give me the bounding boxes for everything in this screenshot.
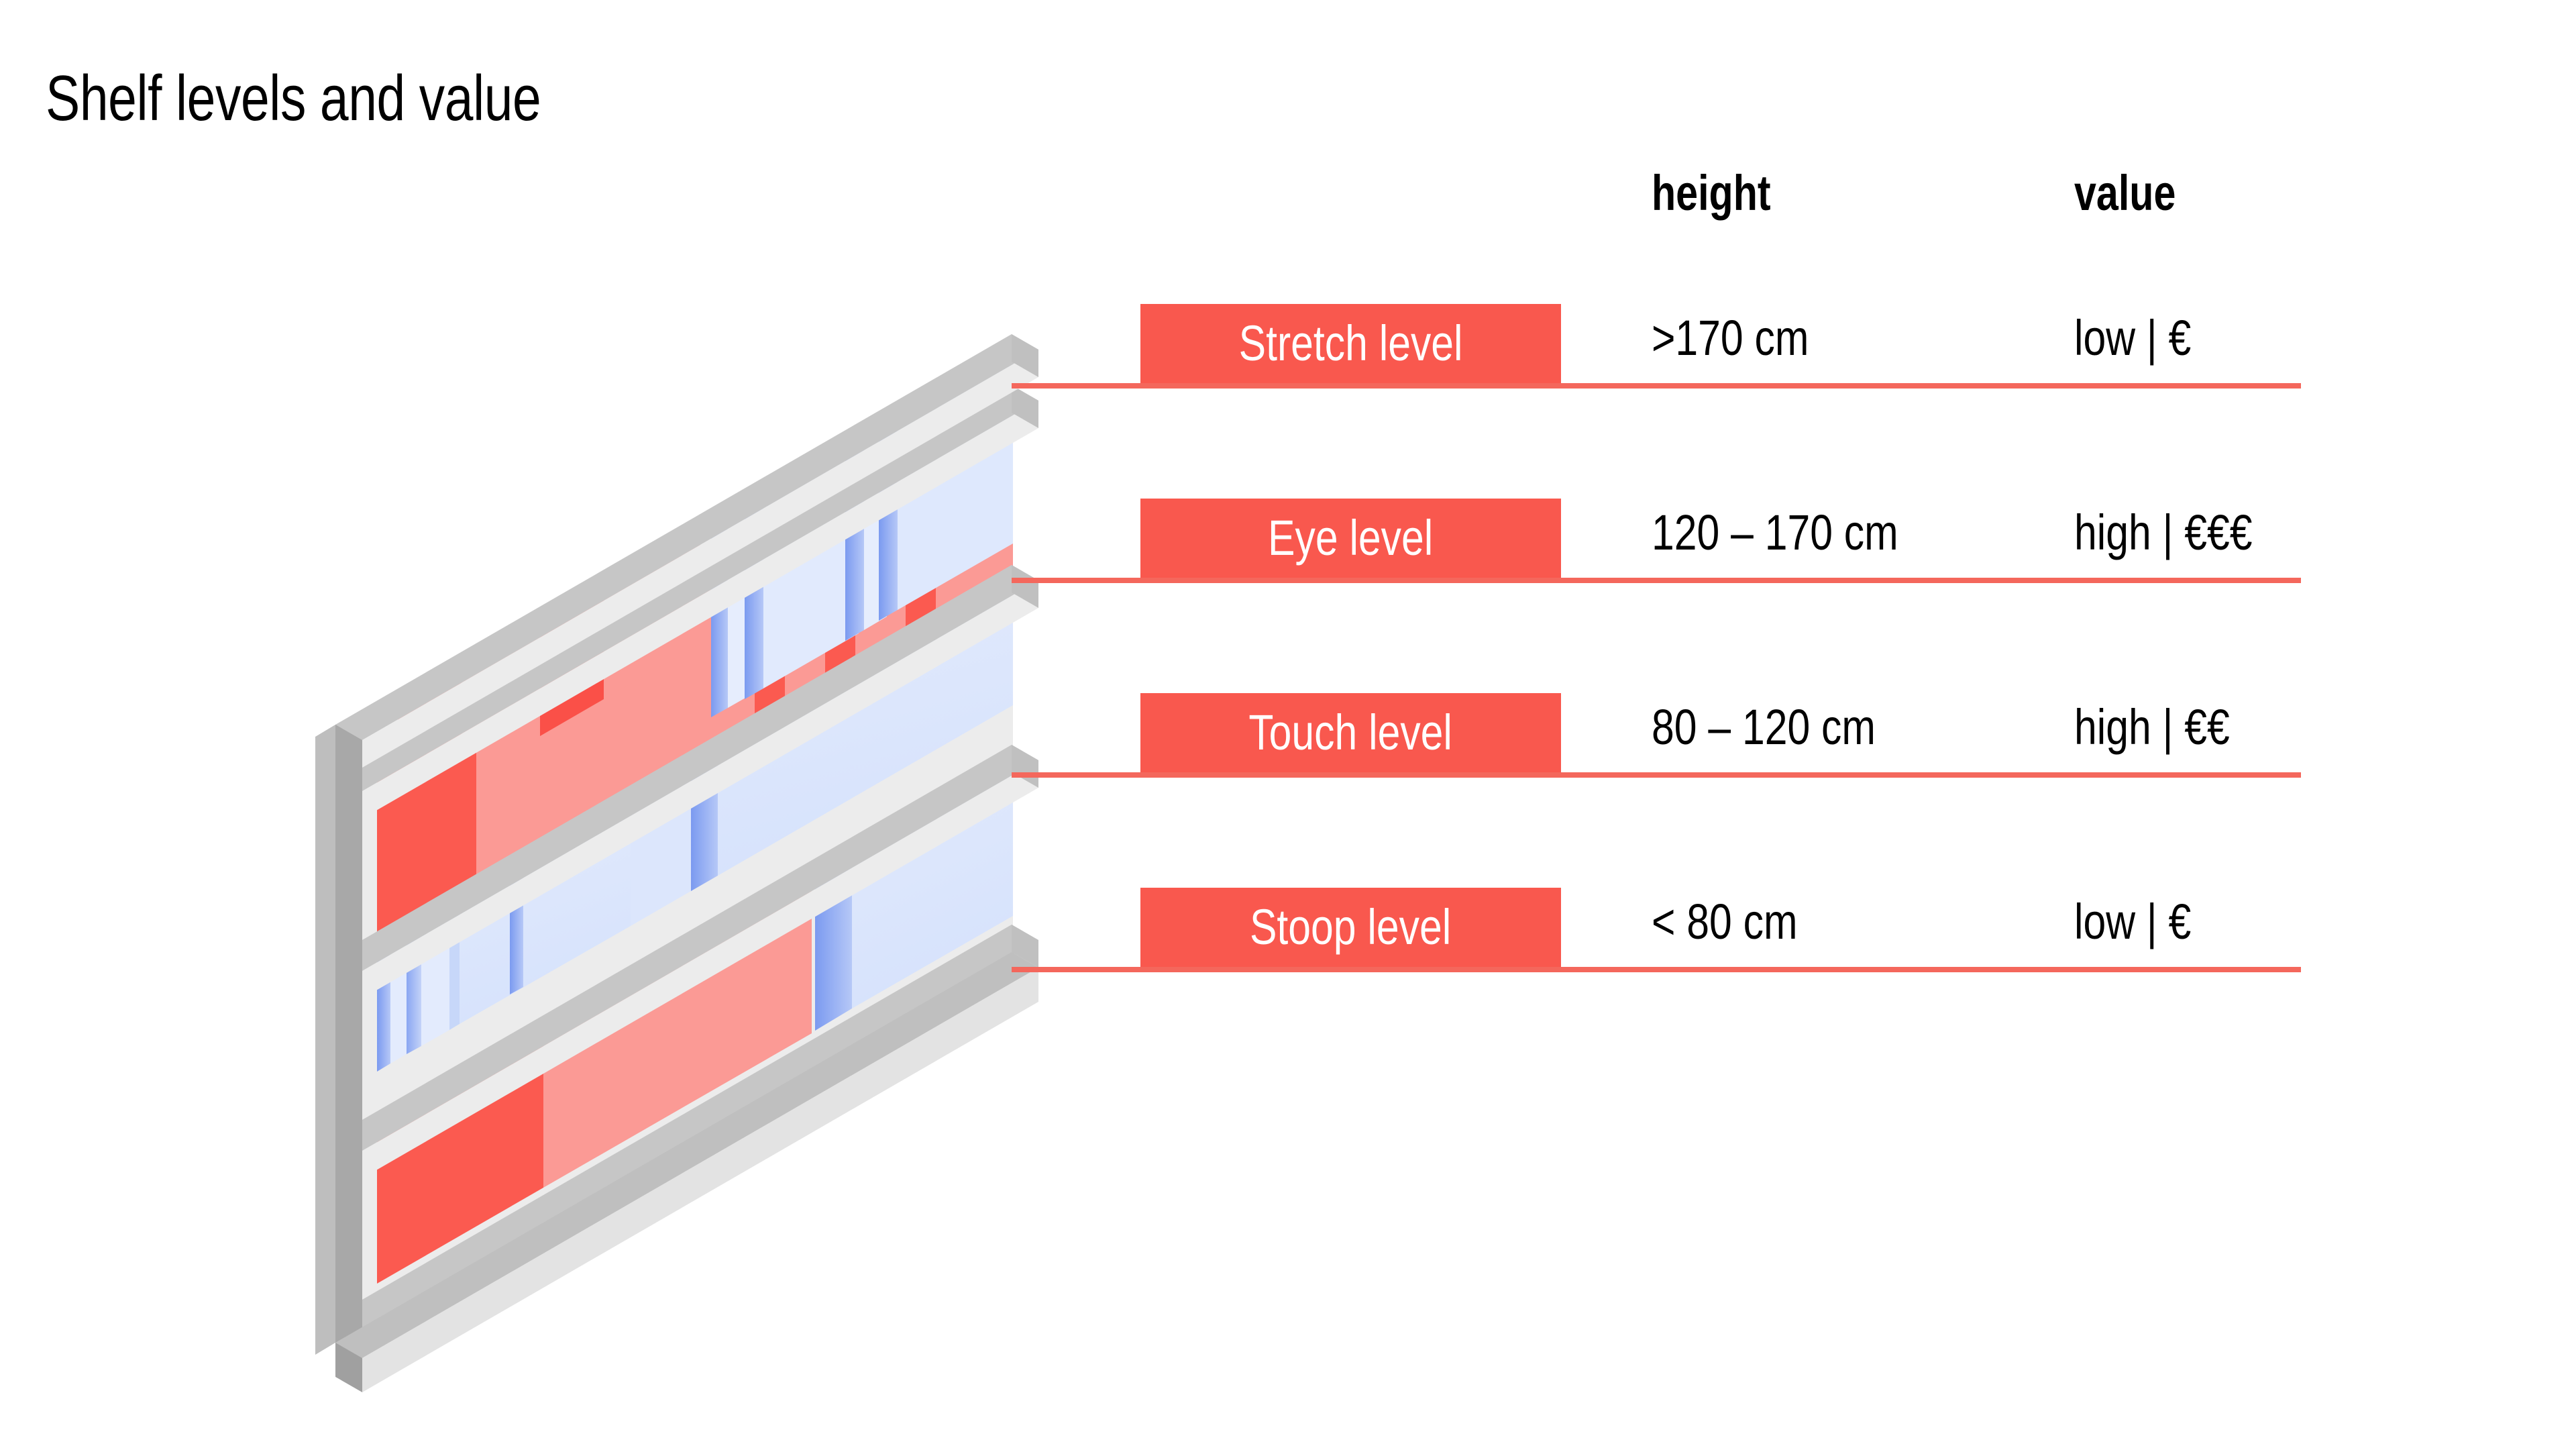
level-badge-stretch[interactable]: Stretch level [1140,304,1561,383]
row-value-value: high | €€ [2074,698,2230,756]
row-height-value: 80 – 120 cm [1652,698,1876,756]
level-badge-label: Eye level [1268,513,1433,563]
level-badge-label: Stretch level [1239,319,1463,368]
level-badge-eye[interactable]: Eye level [1140,499,1561,578]
level-badge-label: Touch level [1249,708,1453,758]
column-header-height: height [1652,164,1771,221]
row-rule-line [1012,578,2301,583]
level-badge-label: Stoop level [1250,902,1451,952]
row-height-value: >170 cm [1652,309,1809,366]
row-height-value: 120 – 170 cm [1652,504,1898,561]
row-value-value: low | € [2074,893,2191,950]
row-rule-line [1012,772,2301,778]
row-rule-line [1012,967,2301,972]
level-badge-stoop[interactable]: Stoop level [1140,888,1561,967]
row-value-value: low | € [2074,309,2191,366]
row-rule-line [1012,383,2301,389]
column-header-value: value [2074,164,2176,221]
shelf-left-post [315,725,362,1358]
level-badge-touch[interactable]: Touch level [1140,693,1561,772]
row-value-value: high | €€€ [2074,504,2252,561]
page-title: Shelf levels and value [46,62,541,136]
row-height-value: < 80 cm [1652,893,1798,950]
shelf-illustration [315,174,1140,1443]
